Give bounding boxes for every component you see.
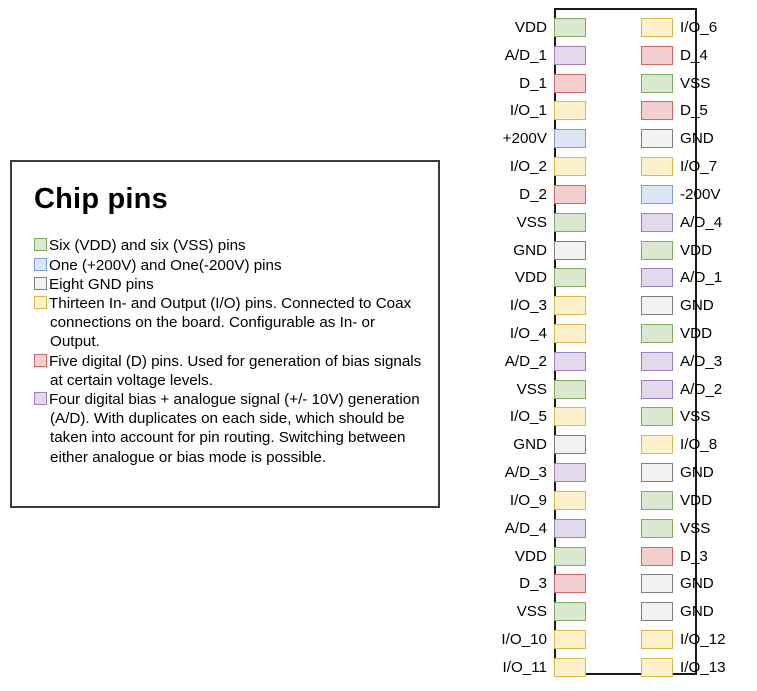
pin-box-yellow[interactable] [641, 157, 673, 176]
pin-box-grey[interactable] [641, 129, 673, 148]
pin-box-grey[interactable] [554, 241, 586, 260]
pin-box-green[interactable] [554, 380, 586, 399]
pin-box-green[interactable] [641, 324, 673, 343]
pin-label: I/O_2 [510, 157, 547, 176]
pin-box-green[interactable] [641, 519, 673, 538]
pin-row[interactable]: GND [470, 434, 586, 455]
pin-box-yellow[interactable] [641, 18, 673, 37]
pin-label: A/D_1 [505, 46, 547, 65]
pin-label: D_5 [680, 101, 708, 120]
pin-row[interactable]: GND [470, 240, 586, 261]
pin-box-grey[interactable] [641, 296, 673, 315]
pin-box-green[interactable] [554, 268, 586, 287]
pin-row[interactable]: I/O_13 [641, 657, 757, 678]
pin-box-green[interactable] [641, 407, 673, 426]
pin-row[interactable]: VSS [641, 406, 757, 427]
pin-label: A/D_3 [680, 352, 722, 371]
pin-box-green[interactable] [554, 18, 586, 37]
pin-box-yellow[interactable] [554, 101, 586, 120]
green-swatch-icon [34, 238, 47, 251]
pin-box-red[interactable] [554, 185, 586, 204]
pin-label: VSS [517, 213, 547, 232]
legend-item: Four digital bias + analogue signal (+/-… [34, 390, 426, 467]
pin-label: D_3 [680, 547, 708, 566]
purple-swatch-icon [34, 392, 47, 405]
pin-label: I/O_13 [680, 658, 726, 677]
pin-box-yellow[interactable] [554, 658, 586, 677]
pin-box-yellow[interactable] [554, 296, 586, 315]
pin-box-red[interactable] [641, 46, 673, 65]
legend-item-label: Four digital bias + analogue signal (+/-… [49, 391, 420, 466]
legend-item: Eight GND pins [34, 275, 426, 294]
pin-box-yellow[interactable] [554, 324, 586, 343]
pin-box-purple[interactable] [641, 380, 673, 399]
legend-item: Six (VDD) and six (VSS) pins [34, 236, 426, 255]
pin-box-green[interactable] [554, 213, 586, 232]
pin-label: VSS [680, 74, 710, 93]
pin-label: I/O_4 [510, 324, 547, 343]
pin-row[interactable]: A/D_1 [641, 267, 757, 288]
pin-row[interactable]: +200V [470, 128, 586, 149]
pin-label: I/O_8 [680, 435, 717, 454]
pin-row[interactable]: I/O_12 [641, 629, 757, 650]
pin-label: A/D_3 [505, 463, 547, 482]
pin-label: A/D_2 [505, 352, 547, 371]
pin-box-yellow[interactable] [641, 630, 673, 649]
legend-item: Five digital (D) pins. Used for generati… [34, 352, 426, 390]
pin-label: D_4 [680, 46, 708, 65]
pin-label: VDD [680, 491, 712, 510]
legend-item-label: Eight GND pins [49, 276, 154, 293]
pin-label: I/O_12 [680, 630, 726, 649]
pin-row[interactable]: D_2 [470, 184, 586, 205]
pin-box-green[interactable] [641, 241, 673, 260]
legend-item-label: Five digital (D) pins. Used for generati… [49, 353, 421, 389]
pin-box-blue[interactable] [554, 129, 586, 148]
pin-label: GND [680, 296, 714, 315]
legend-title: Chip pins [34, 184, 438, 214]
pin-label: I/O_7 [680, 157, 717, 176]
pin-label: VSS [680, 407, 710, 426]
pin-box-red[interactable] [641, 101, 673, 120]
pin-box-yellow[interactable] [641, 658, 673, 677]
chip-pins-legend-panel: Chip pins Six (VDD) and six (VSS) pinsOn… [10, 160, 440, 508]
pin-label: D_2 [519, 185, 547, 204]
pin-row[interactable]: I/O_9 [470, 490, 586, 511]
pin-row[interactable]: VDD [470, 546, 586, 567]
pin-row[interactable]: D_4 [641, 45, 757, 66]
pin-box-grey[interactable] [641, 602, 673, 621]
pin-label: VDD [680, 241, 712, 260]
pin-box-green[interactable] [641, 74, 673, 93]
pin-row[interactable]: -200V [641, 184, 757, 205]
pin-row[interactable]: I/O_6 [641, 17, 757, 38]
pin-label: VDD [515, 547, 547, 566]
pin-row[interactable]: A/D_3 [641, 351, 757, 372]
pin-label: VDD [680, 324, 712, 343]
pin-label: A/D_2 [680, 380, 722, 399]
pin-label: GND [513, 241, 547, 260]
pin-label: GND [513, 435, 547, 454]
pin-row[interactable]: VSS [470, 601, 586, 622]
pin-label: A/D_1 [680, 268, 722, 287]
pin-box-green[interactable] [554, 547, 586, 566]
pin-label: GND [680, 463, 714, 482]
legend-item: Thirteen In- and Output (I/O) pins. Conn… [34, 294, 426, 352]
pin-box-green[interactable] [554, 602, 586, 621]
pin-row[interactable]: A/D_4 [470, 518, 586, 539]
pin-row[interactable]: I/O_5 [470, 406, 586, 427]
pin-row[interactable]: GND [641, 462, 757, 483]
pin-box-grey[interactable] [554, 435, 586, 454]
pin-row[interactable]: I/O_10 [470, 629, 586, 650]
legend-item-list: Six (VDD) and six (VSS) pinsOne (+200V) … [34, 236, 426, 466]
pin-label: GND [680, 602, 714, 621]
pin-label: VSS [680, 519, 710, 538]
pin-box-yellow[interactable] [554, 630, 586, 649]
pin-row[interactable]: D_1 [470, 73, 586, 94]
blue-swatch-icon [34, 258, 47, 271]
pin-label: GND [680, 129, 714, 148]
pin-row[interactable]: I/O_1 [470, 100, 586, 121]
pin-row[interactable]: VDD [470, 17, 586, 38]
pin-row[interactable]: GND [641, 601, 757, 622]
pin-label: I/O_11 [503, 658, 547, 677]
pin-row[interactable]: VDD [641, 240, 757, 261]
pin-label: D_3 [519, 574, 547, 593]
chip-pinout-diagram: VDDA/D_1D_1I/O_1+200VI/O_2D_2VSSGNDVDDI/… [470, 0, 757, 691]
pin-row[interactable]: GND [641, 128, 757, 149]
pin-label: -200V [680, 185, 721, 204]
pin-row[interactable]: D_5 [641, 100, 757, 121]
legend-item: One (+200V) and One(-200V) pins [34, 256, 426, 275]
pin-box-yellow[interactable] [554, 157, 586, 176]
pin-box-purple[interactable] [554, 519, 586, 538]
pin-row[interactable]: VDD [641, 323, 757, 344]
pin-box-yellow[interactable] [554, 491, 586, 510]
pin-label: GND [680, 574, 714, 593]
pin-label: I/O_9 [510, 491, 547, 510]
pin-box-purple[interactable] [554, 463, 586, 482]
pin-label: I/O_5 [510, 407, 547, 426]
pin-row[interactable]: A/D_2 [641, 379, 757, 400]
pin-row[interactable]: D_3 [470, 573, 586, 594]
pin-box-purple[interactable] [641, 352, 673, 371]
pin-row[interactable]: GND [641, 295, 757, 316]
pin-label: A/D_4 [505, 519, 547, 538]
grey-swatch-icon [34, 277, 47, 290]
pin-label: VDD [515, 268, 547, 287]
pin-label: I/O_1 [510, 101, 547, 120]
legend-item-label: One (+200V) and One(-200V) pins [49, 257, 282, 274]
legend-item-label: Six (VDD) and six (VSS) pins [49, 237, 246, 254]
yellow-swatch-icon [34, 296, 47, 309]
pin-box-purple[interactable] [641, 213, 673, 232]
pin-row[interactable]: I/O_8 [641, 434, 757, 455]
pin-box-red[interactable] [641, 547, 673, 566]
pin-box-grey[interactable] [641, 574, 673, 593]
legend-item-label: Thirteen In- and Output (I/O) pins. Conn… [49, 295, 411, 350]
pin-row[interactable]: I/O_4 [470, 323, 586, 344]
pin-box-blue[interactable] [641, 185, 673, 204]
pin-label: VDD [515, 18, 547, 37]
red-swatch-icon [34, 354, 47, 367]
pin-box-red[interactable] [554, 574, 586, 593]
pin-row[interactable]: I/O_11 [470, 657, 586, 678]
pin-box-yellow[interactable] [554, 407, 586, 426]
pin-label: VSS [517, 380, 547, 399]
pin-row[interactable]: VSS [641, 518, 757, 539]
pin-row[interactable]: I/O_2 [470, 156, 586, 177]
pin-row[interactable]: VDD [641, 490, 757, 511]
pin-label: D_1 [519, 74, 547, 93]
pin-box-purple[interactable] [641, 268, 673, 287]
pin-label: I/O_10 [501, 630, 547, 649]
pin-box-grey[interactable] [641, 463, 673, 482]
pin-row[interactable]: VSS [470, 212, 586, 233]
pin-label: I/O_6 [680, 18, 717, 37]
pin-row[interactable]: I/O_3 [470, 295, 586, 316]
pin-row[interactable]: A/D_4 [641, 212, 757, 233]
pin-box-green[interactable] [641, 491, 673, 510]
pin-row[interactable]: I/O_7 [641, 156, 757, 177]
pin-row[interactable]: GND [641, 573, 757, 594]
pin-label: +200V [503, 129, 547, 148]
pin-label: I/O_3 [510, 296, 547, 315]
pin-row[interactable]: A/D_3 [470, 462, 586, 483]
pin-box-red[interactable] [554, 74, 586, 93]
pin-row[interactable]: A/D_2 [470, 351, 586, 372]
pin-box-purple[interactable] [554, 352, 586, 371]
pin-row[interactable]: VSS [470, 379, 586, 400]
pin-row[interactable]: VDD [470, 267, 586, 288]
pin-row[interactable]: D_3 [641, 546, 757, 567]
pin-label: VSS [517, 602, 547, 621]
pin-box-yellow[interactable] [641, 435, 673, 454]
pin-label: A/D_4 [680, 213, 722, 232]
pin-row[interactable]: VSS [641, 73, 757, 94]
pin-box-purple[interactable] [554, 46, 586, 65]
pin-row[interactable]: A/D_1 [470, 45, 586, 66]
